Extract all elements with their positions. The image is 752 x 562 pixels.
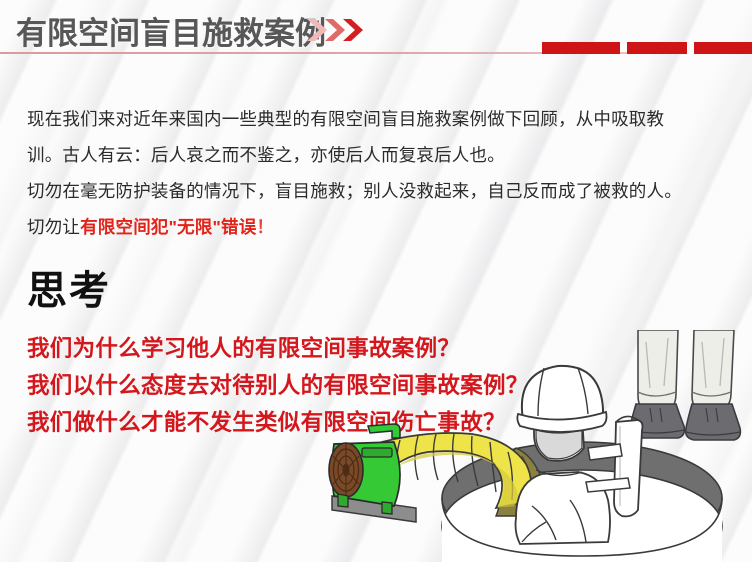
yellow-flexible-duct-icon [382, 433, 543, 516]
warning-emphasis: 有限空间犯"无限"错误 [80, 217, 256, 237]
think-section-heading: 思考 [27, 258, 111, 316]
question-item: 我们为什么学习他人的有限空间事故案例？ [27, 330, 647, 367]
accent-bar-segment [694, 42, 752, 54]
warning-prefix: 切勿让 [27, 217, 80, 237]
paragraph-line: 现在我们来对近年来国内一些典型的有限空间盲目施救案例做下回顾，从中吸取教 [27, 101, 727, 137]
background-texture [0, 0, 752, 562]
header-accent-bars [542, 42, 752, 54]
manhole-opening-icon [442, 442, 722, 562]
warning-suffix: ！ [256, 217, 274, 237]
slide-canvas: 有限空间盲目施救案例 现在我们来对近年来国内一些典型的有限空间盲目施救案例做下回… [0, 0, 752, 562]
page-title: 有限空间盲目施救案例 [16, 8, 326, 53]
paragraph-line: 训。古人有云：后人哀之而不鉴之，亦使后人而复哀后人也。 [27, 137, 727, 173]
accent-bar-segment [627, 42, 687, 54]
slide-header: 有限空间盲目施救案例 [0, 0, 752, 56]
question-item: 我们做什么才能不发生类似有限空间伤亡事故？ [27, 404, 647, 441]
paragraph-line: 切勿在毫无防护装备的情况下，盲目施救；别人没救起来，自己反而成了被救的人。 [27, 173, 727, 209]
manhole-front-lip [442, 498, 722, 562]
question-item: 我们以什么态度去对待别人的有限空间事故案例？ [27, 367, 647, 404]
accent-bar-segment [542, 42, 620, 54]
body-text-block: 现在我们来对近年来国内一些典型的有限空间盲目施救案例做下回顾，从中吸取教 训。古… [27, 101, 727, 245]
warning-line: 切勿让有限空间犯"无限"错误！ [27, 209, 727, 245]
question-list: 我们为什么学习他人的有限空间事故案例？ 我们以什么态度去对待别人的有限空间事故案… [27, 330, 647, 441]
manhole-front-edge [442, 498, 722, 556]
accent-bar-gap [620, 42, 627, 54]
double-chevron-right-icon [305, 17, 375, 43]
accent-bar-gap [687, 42, 694, 54]
